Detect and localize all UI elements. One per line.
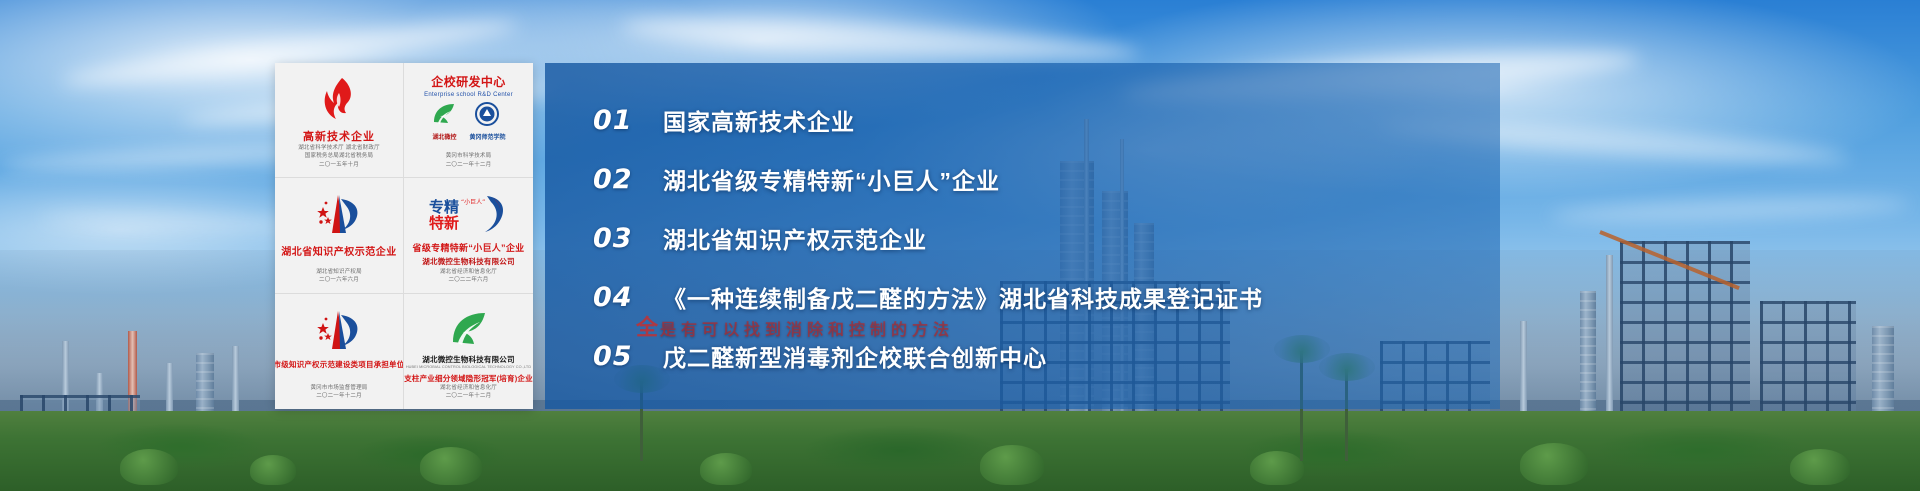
certificate-title: 企校研发中心: [431, 73, 505, 90]
certificate-card[interactable]: 市级知识产权示范建设类项目承担单位 黄冈市市场监督管理局 二〇二一年十二月: [275, 294, 404, 409]
certificate-footer: 黄冈市市场监督管理局 二〇二一年十二月: [310, 384, 367, 403]
svg-text:“小巨人”: “小巨人”: [461, 198, 485, 206]
shrub: [1520, 443, 1588, 485]
certificate-title-english: Enterprise school R&D Center: [424, 92, 513, 98]
item-label: 湖北省知识产权示范企业: [663, 221, 927, 255]
list-item[interactable]: 03 湖北省知识产权示范企业: [593, 221, 1593, 255]
item-number: 05: [593, 341, 663, 372]
footer-line: 二〇二一年十二月: [440, 392, 497, 401]
item-label: 国家高新技术企业: [663, 103, 855, 137]
footer-line: 国家税务总局湖北省税务局: [298, 152, 380, 161]
company-name-english: HUBEI MICROBIAL CONTROL BIOLOGICAL TECHN…: [406, 365, 531, 369]
zjtx-emblem: 专精 特新 “小巨人”: [427, 190, 511, 236]
item-label: 《一种连续制备戊二醛的方法》湖北省科技成果登记证书: [663, 280, 1263, 314]
list-item[interactable]: 05 戊二醛新型消毒剂企校联合创新中心: [593, 339, 1593, 373]
certificate-footer: 湖北省知识产权局 二〇一六年六月: [316, 268, 362, 287]
item-number: 02: [593, 164, 663, 195]
item-label: 湖北省级专精特新“小巨人”企业: [663, 162, 1000, 196]
shrub: [980, 445, 1044, 485]
certificate-card[interactable]: 企校研发中心 Enterprise school R&D Center 湖北微控…: [404, 63, 533, 178]
certificate-grid: 高新技术企业 湖北省科学技术厅 湖北省财政厅 国家税务总局湖北省税务局 二〇一五…: [275, 63, 533, 409]
list-item[interactable]: 02 湖北省级专精特新“小巨人”企业: [593, 162, 1593, 196]
item-number: 03: [593, 223, 663, 254]
list-item[interactable]: 01 国家高新技术企业: [593, 103, 1593, 137]
footer-line: 湖北省经济和信息化厅: [440, 268, 497, 277]
partner-logos: 湖北微控 黄冈师范学院: [431, 102, 505, 141]
certificate-title: 省级专精特新“小巨人”企业: [413, 241, 525, 254]
achievement-list: 01 国家高新技术企业 02 湖北省级专精特新“小巨人”企业 03 湖北省知识产…: [593, 78, 1593, 398]
footer-line: 二〇二一年十二月: [446, 161, 492, 170]
footer-line: 湖北省科学技术厅 湖北省财政厅: [298, 144, 380, 153]
shrub: [1250, 451, 1304, 485]
partner-logo-1: 湖北微控: [431, 102, 457, 141]
star-p-emblem: [314, 190, 364, 238]
university-seal-icon: [475, 102, 499, 126]
footer-line: 湖北省经济和信息化厅: [440, 384, 497, 393]
footer-line: 二〇一六年六月: [316, 276, 362, 285]
certificate-title: 湖北省知识产权示范企业: [281, 243, 397, 258]
certificate-card[interactable]: 专精 特新 “小巨人” 省级专精特新“小巨人”企业 湖北微控生物科技有限公司 湖…: [404, 178, 533, 293]
footer-line: 二〇二二年六月: [440, 276, 497, 285]
shrub: [120, 449, 178, 485]
shrub: [700, 453, 752, 485]
footer-line: 二〇二一年十二月: [310, 392, 367, 401]
certificate-footer: 湖北省经济和信息化厅 二〇二一年十二月: [440, 384, 497, 403]
certificate-footer: 湖北省科学技术厅 湖北省财政厅 国家税务总局湖北省税务局 二〇一五年十月: [298, 144, 380, 172]
svg-text:特新: 特新: [429, 214, 459, 232]
list-item[interactable]: 04 《一种连续制备戊二醛的方法》湖北省科技成果登记证书: [593, 280, 1593, 314]
shrub: [250, 455, 296, 485]
partner-logo-2-name: 黄冈师范学院: [469, 132, 505, 141]
item-number: 04: [593, 282, 663, 313]
certificate-title: 市级知识产权示范建设类项目承担单位: [275, 359, 404, 370]
partner-logo-2: 黄冈师范学院: [469, 102, 505, 141]
shrub: [1790, 449, 1850, 485]
certificate-footer: 黄冈市科学技术局 二〇二一年十二月: [446, 152, 492, 171]
certificate-card[interactable]: 湖北省知识产权示范企业 湖北省知识产权局 二〇一六年六月: [275, 178, 404, 293]
item-number: 01: [593, 105, 663, 136]
footer-line: 二〇一五年十月: [298, 161, 380, 170]
watermark-leading-char: 全: [636, 310, 658, 342]
certificate-title: 支柱产业细分领域隐形冠军(培育)企业: [404, 373, 533, 384]
company-name: 湖北微控生物科技有限公司: [422, 354, 514, 365]
item-label: 戊二醛新型消毒剂企校联合创新中心: [663, 339, 1047, 373]
certificate-footer: 湖北省经济和信息化厅 二〇二二年六月: [440, 268, 497, 287]
flame-emblem: [322, 75, 356, 123]
certificate-card[interactable]: 湖北微控生物科技有限公司 HUBEI MICROBIAL CONTROL BIO…: [404, 294, 533, 409]
partner-logo-1-name: 湖北微控: [431, 132, 457, 141]
footer-line: 湖北省知识产权局: [316, 268, 362, 277]
certificate-title: 高新技术企业: [303, 128, 375, 144]
footer-line: 黄冈市市场监督管理局: [310, 384, 367, 393]
footer-line: 黄冈市科学技术局: [446, 152, 492, 161]
green-leaf-icon: [431, 102, 457, 126]
certificate-subtitle: 湖北微控生物科技有限公司: [422, 256, 514, 267]
shrub: [420, 447, 482, 485]
certificate-card[interactable]: 高新技术企业 湖北省科学技术厅 湖北省财政厅 国家税务总局湖北省税务局 二〇一五…: [275, 63, 404, 178]
watermark-text: 是有可以找到消除和控制的方法: [660, 316, 1220, 340]
star-p-emblem: [314, 306, 364, 354]
green-leaf-emblem: [449, 306, 489, 352]
